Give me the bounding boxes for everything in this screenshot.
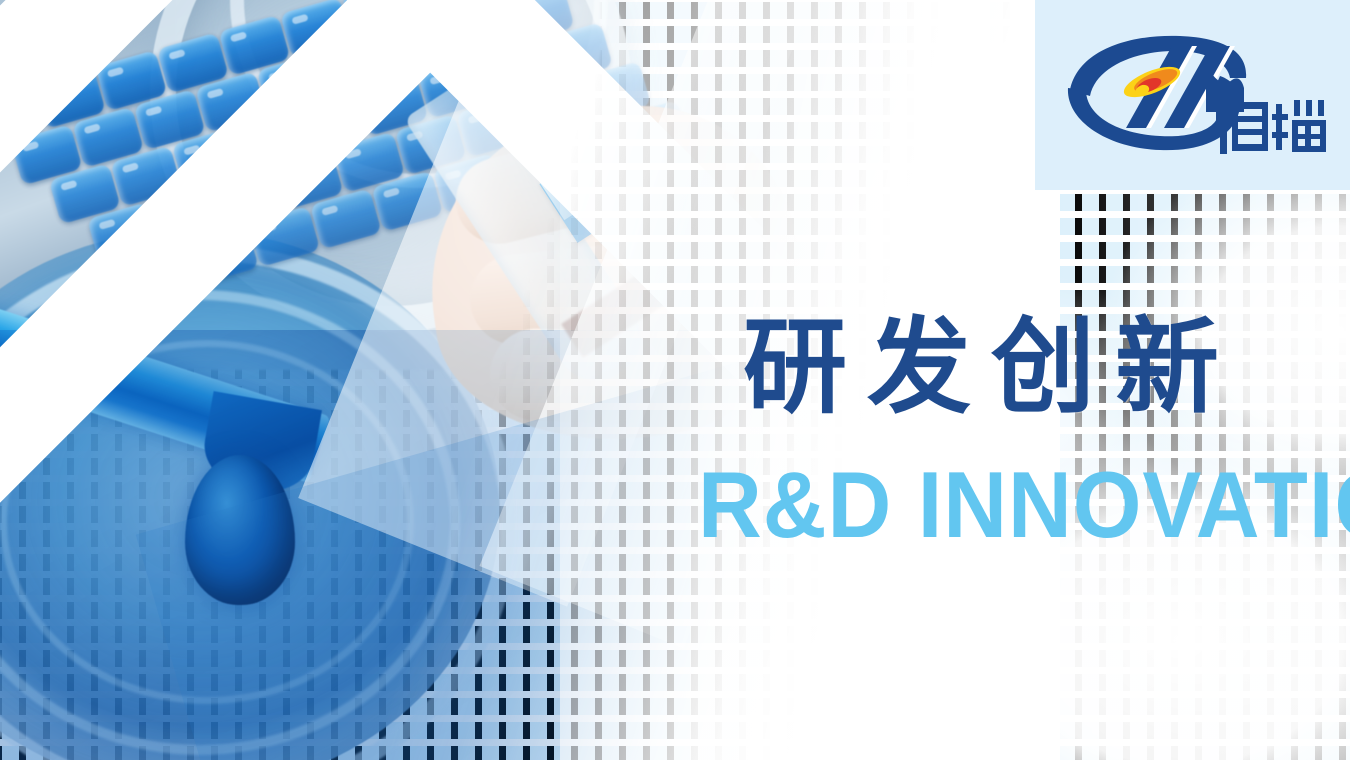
page-subtitle-en: R&D INNOVATION xyxy=(698,458,1350,552)
company-logo[interactable] xyxy=(1060,28,1330,160)
hengrui-logo-icon xyxy=(1060,28,1330,160)
rd-innovation-banner: 研发创新 R&D INNOVATION xyxy=(0,0,1350,760)
page-title-cn: 研发创新 xyxy=(743,316,1239,420)
laboratory-photo-collage xyxy=(0,0,820,760)
